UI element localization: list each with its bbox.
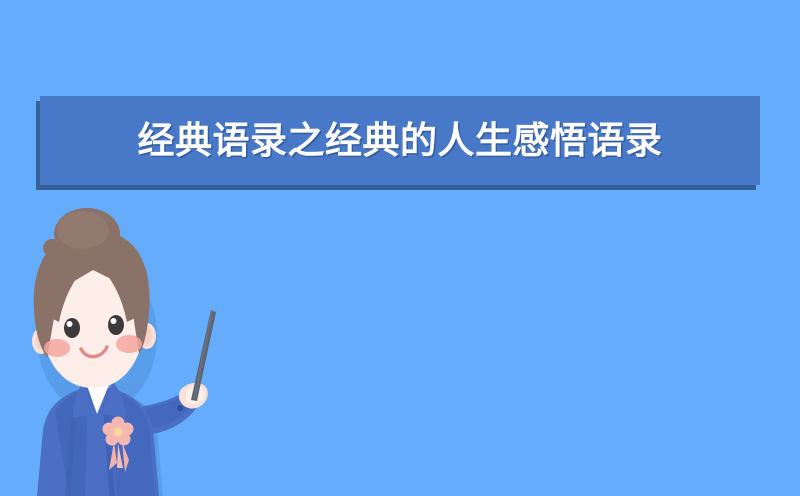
right-eye (108, 315, 124, 335)
right-blush (116, 335, 142, 353)
teacher-svg (25, 218, 230, 496)
page-title: 经典语录之经典的人生感悟语录 (138, 122, 663, 159)
teacher-illustration (25, 218, 230, 496)
title-banner: 经典语录之经典的人生感悟语录 (40, 96, 760, 185)
slide-canvas: 经典语录之经典的人生感悟语录 (0, 0, 800, 496)
badge-center (114, 428, 123, 437)
left-eye (64, 318, 80, 338)
sleeve-button (177, 405, 183, 411)
left-blush (44, 339, 70, 357)
